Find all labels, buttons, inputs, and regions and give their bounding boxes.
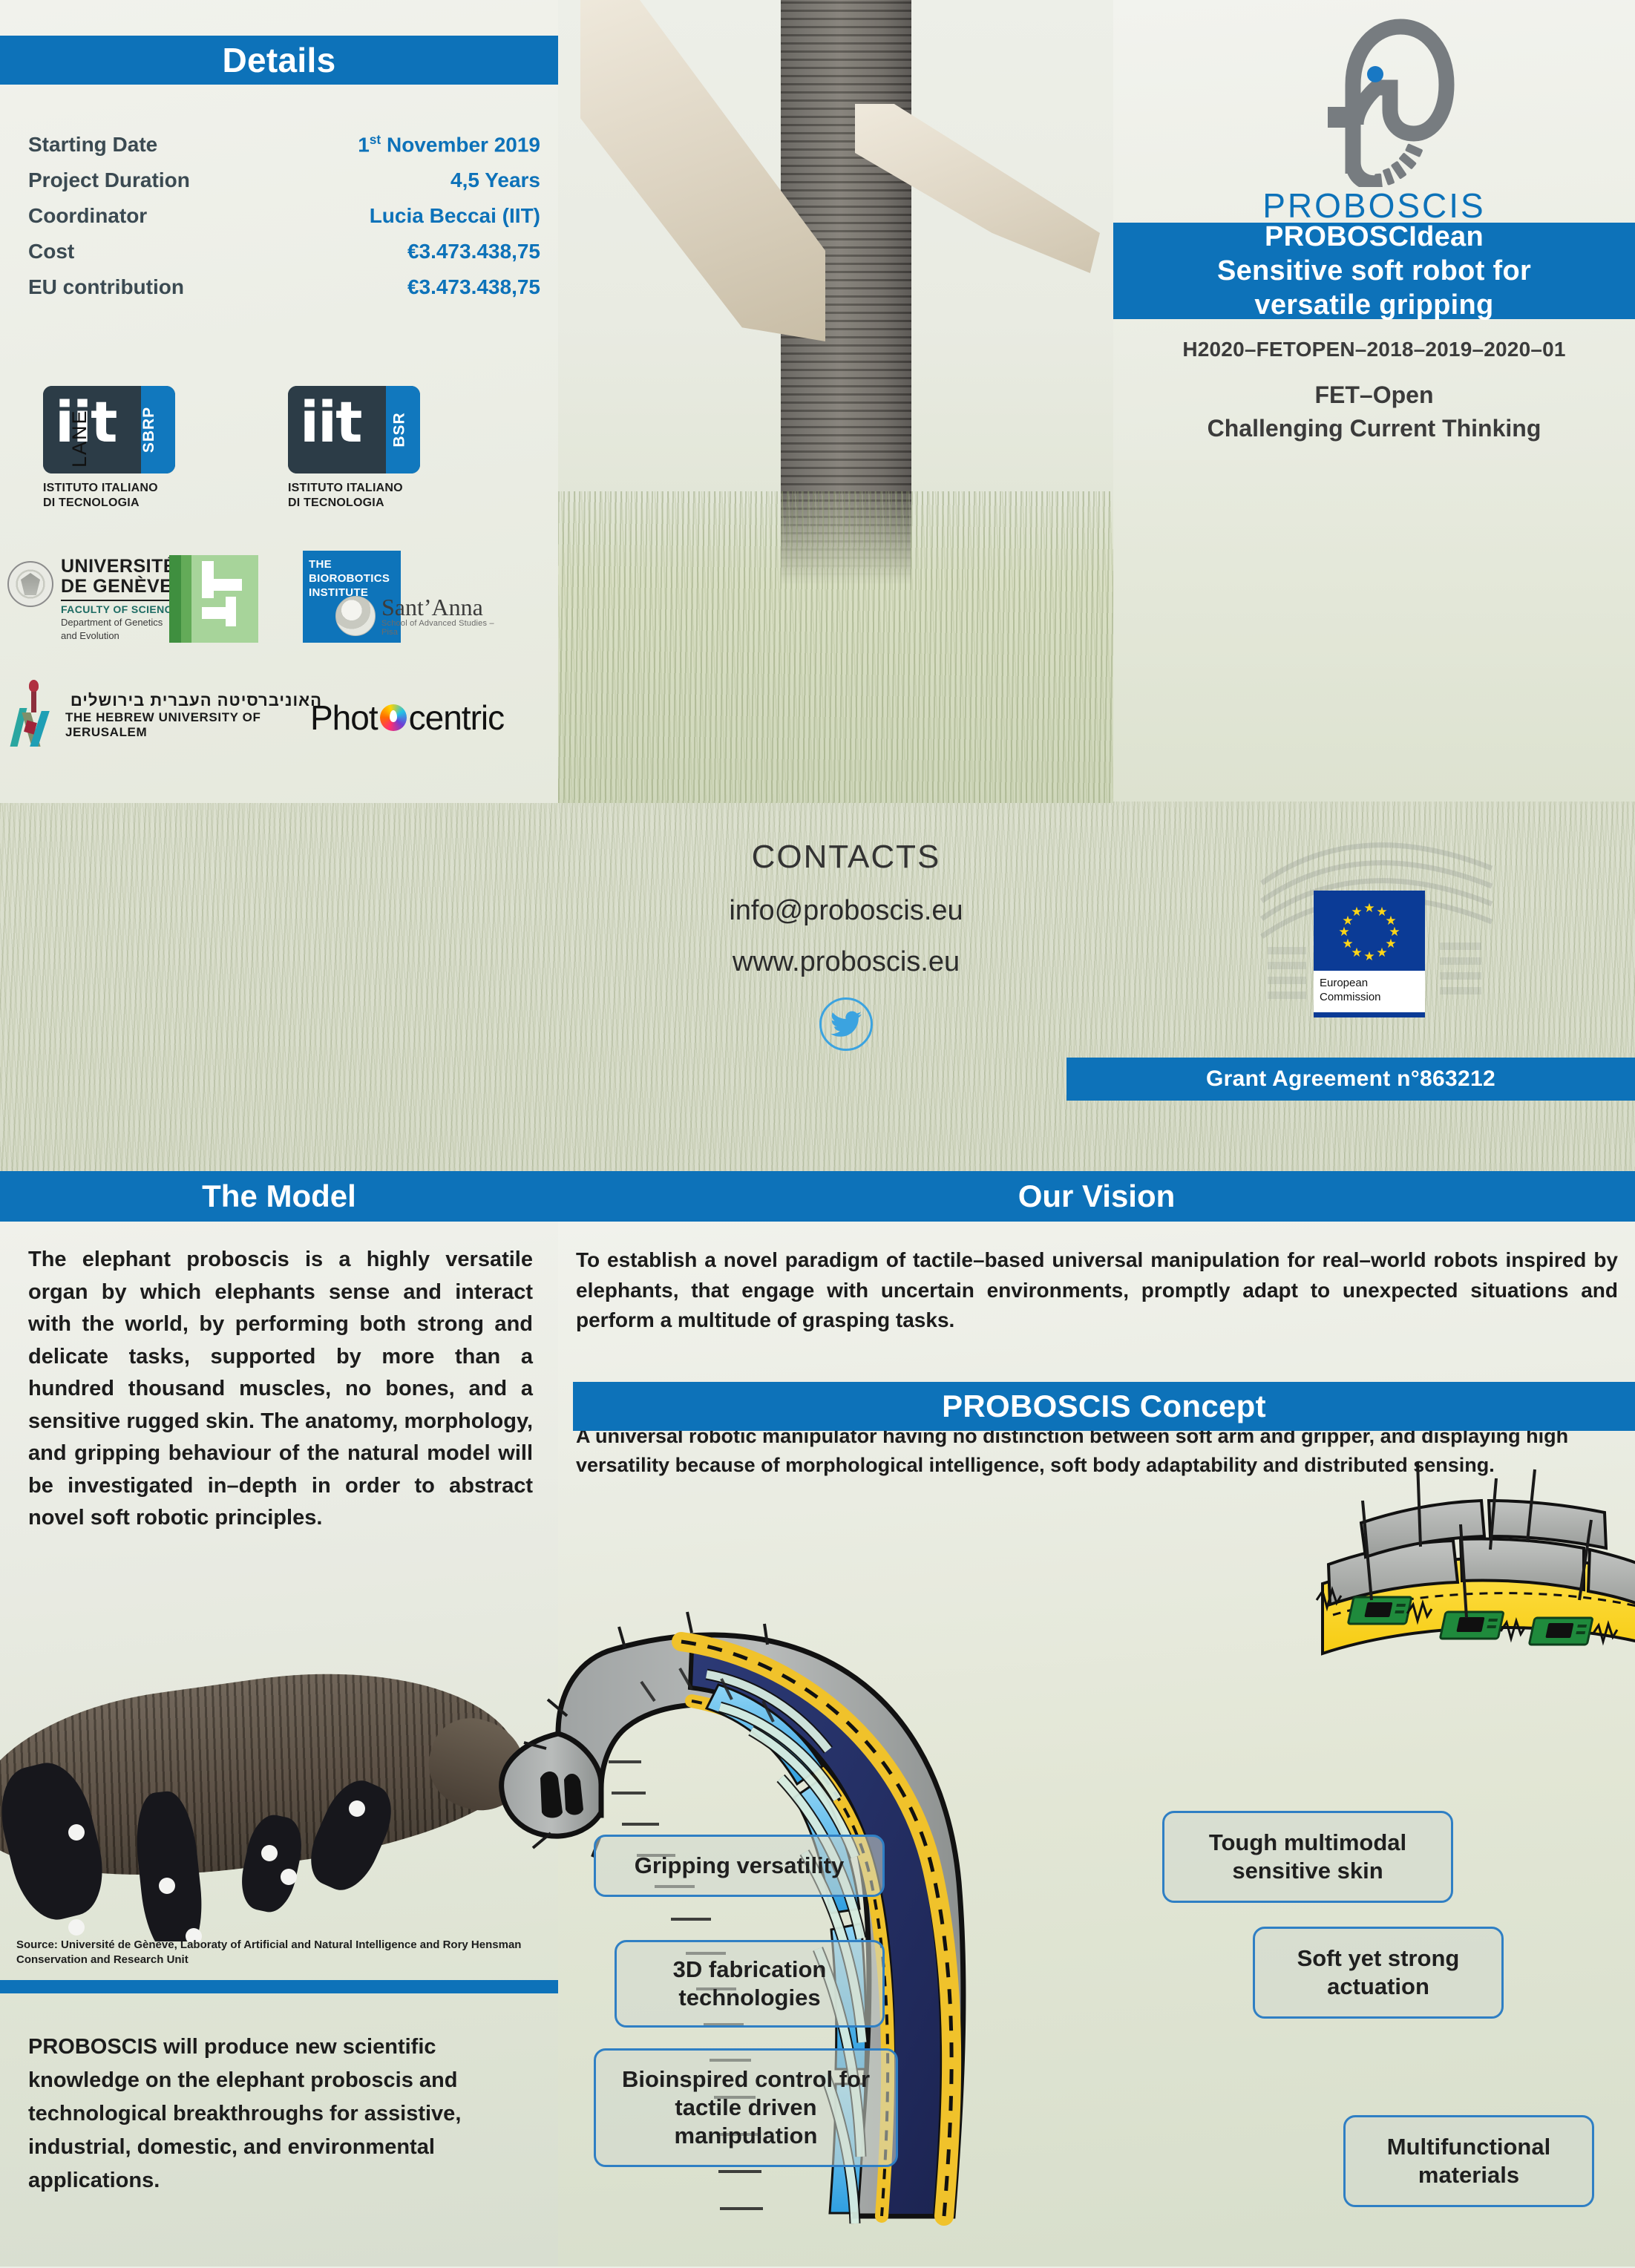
marker-dot-7: [281, 1869, 297, 1885]
iit-bsr-caption: Istituto Italiano di Tecnologia: [288, 481, 420, 511]
detail-value-cost: €3.473.438,75: [407, 240, 540, 263]
details-header-label: Details: [223, 40, 336, 80]
grant-agreement-bar: Grant Agreement n°863212: [1066, 1058, 1635, 1101]
eu-commission-label: European Commission: [1314, 971, 1425, 1017]
hebrew-university-torch-icon: [10, 683, 58, 748]
photocentric-droplet-icon: [380, 704, 407, 731]
unige-seal-icon: [7, 561, 53, 607]
logo-iit-bsr: iit BSR Istituto Italiano di Tecnologia: [288, 386, 420, 511]
contacts-block: CONTACTS info@proboscis.eu www.proboscis…: [653, 839, 1039, 1051]
detail-value-starting-date: 1st November 2019: [358, 132, 540, 157]
iit-bsr-blue-field: BSR: [386, 386, 420, 473]
santanna-text-block: Sant’Anna School of Advanced Studies – P…: [381, 595, 499, 637]
twitter-icon[interactable]: [819, 997, 873, 1051]
iit-sbrp-unit: SBRP: [140, 407, 158, 453]
marker-dot-3: [159, 1878, 175, 1894]
marker-dot-6: [261, 1845, 278, 1861]
iit-mark-blue-field: SBRP: [141, 386, 175, 473]
chip-soft-yet-strong-actuation[interactable]: Soft yet strong actuation: [1253, 1927, 1504, 2019]
iit-bsr-mark: iit BSR: [288, 386, 420, 473]
hebrew-university-english-name: THE HEBREW UNIVERSITY OF JERUSALEM: [65, 710, 322, 740]
programme-name: FET–Open Challenging Current Thinking: [1113, 378, 1635, 445]
santanna-crest-icon: [335, 596, 376, 636]
hebrew-university-text-block: האוניברסיטה העברית בירושלים THE HEBREW U…: [65, 691, 322, 740]
hebrew-university-hebrew-name: האוניברסיטה העברית בירושלים: [65, 691, 322, 710]
proboscis-wordmark: PROBOSCIS: [1113, 186, 1635, 226]
vision-body-text: To establish a novel paradigm of tactile…: [576, 1245, 1618, 1336]
partner-logos: iit SBRP Istituto Italiano di Tecnologia…: [0, 386, 558, 727]
concept-section-header-bar: PROBOSCIS Concept: [573, 1382, 1635, 1431]
iit-bsr-caption-line1: Istituto Italiano: [288, 481, 420, 496]
model-photo-source-caption: Source: Université de Gènève, Laboraty o…: [16, 1938, 536, 1968]
project-title-line1: PROBOSCIdean: [1265, 220, 1484, 253]
section-header-bar: The Model Our Vision: [0, 1171, 1635, 1222]
iit-bsr-dark-field: iit: [288, 386, 386, 473]
detail-row-starting-date: Starting Date 1st November 2019: [28, 132, 540, 157]
logo-lane: [169, 555, 258, 643]
eu-label-line2: Commission: [1320, 991, 1419, 1005]
santanna-name: Sant’Anna: [381, 595, 499, 619]
details-header-bar: Details: [0, 36, 558, 85]
closing-statement-text: PROBOSCIS will produce new scientific kn…: [28, 2031, 533, 2197]
chip-gripping-versatility[interactable]: Gripping versatility: [594, 1835, 885, 1897]
detail-row-coordinator: Coordinator Lucia Beccai (IIT): [28, 204, 540, 228]
logo-iit-sbrp: iit SBRP Istituto Italiano di Tecnologia: [43, 386, 175, 511]
lane-wordmark: LANE: [68, 390, 91, 468]
detail-row-eu-contribution: EU contribution €3.473.438,75: [28, 275, 540, 299]
project-title-line3: versatile gripping: [1254, 289, 1493, 321]
marker-dot-1: [68, 1824, 85, 1841]
details-list: Starting Date 1st November 2019 Project …: [28, 132, 540, 311]
hero-grass-foreground: [558, 491, 1113, 803]
logo-eye-dot: [1367, 66, 1383, 82]
detail-label-starting-date: Starting Date: [28, 133, 157, 157]
model-section-header: The Model: [0, 1171, 558, 1222]
contacts-title: CONTACTS: [653, 839, 1039, 876]
elephant-tusks-photo: [558, 0, 1113, 803]
iit-sbrp-caption-line2: di Tecnologia: [43, 496, 175, 511]
lane-cut-2: [214, 579, 242, 591]
lane-stripe-2: [181, 555, 191, 643]
torch-flame: [29, 680, 39, 692]
iit-bsr-unit: BSR: [390, 412, 408, 447]
detail-label-coordinator: Coordinator: [28, 204, 147, 228]
lane-stripe-1: [169, 555, 181, 643]
chip-multifunctional-materials[interactable]: Multifunctional materials: [1343, 2115, 1594, 2207]
lane-cut-1: [202, 561, 214, 598]
european-commission-logo: ★ ★ ★ ★ ★ ★ ★ ★ ★ ★ ★ ★ European Commiss…: [1314, 891, 1425, 1017]
iit-bsr-letters: iit: [300, 396, 361, 448]
iit-bsr-caption-line2: di Tecnologia: [288, 496, 420, 511]
contact-website[interactable]: www.proboscis.eu: [653, 946, 1039, 978]
concept-section-header-label: PROBOSCIS Concept: [942, 1389, 1266, 1424]
chip-3d-fabrication-technologies[interactable]: 3D fabrication technologies: [615, 1940, 885, 2028]
twitter-bird-icon: [830, 1011, 862, 1038]
iit-sbrp-caption-line1: Istituto Italiano: [43, 481, 175, 496]
brand-panel: PROBOSCIS H2020–FETOPEN–2018–2019–2020–0…: [1113, 0, 1635, 803]
eu-flag-icon: ★ ★ ★ ★ ★ ★ ★ ★ ★ ★ ★ ★: [1314, 891, 1425, 971]
iit-mark-dark-field: iit: [43, 386, 141, 473]
biorobotics-line1: THE BIOROBOTICS: [309, 558, 395, 586]
contact-email[interactable]: info@proboscis.eu: [653, 895, 1039, 927]
detail-value-eu-contribution: €3.473.438,75: [407, 275, 540, 299]
eu-label-line1: European: [1320, 977, 1419, 991]
photocentric-part2: centric: [409, 698, 504, 738]
detail-value-project-duration: 4,5 Years: [450, 168, 540, 192]
logo-santanna: Sant’Anna School of Advanced Studies – P…: [335, 595, 499, 637]
marker-dot-8: [349, 1800, 365, 1817]
marker-dot-2: [68, 1919, 85, 1936]
call-identifier: H2020–FETOPEN–2018–2019–2020–01: [1113, 338, 1635, 361]
programme-line1: FET–Open: [1113, 378, 1635, 412]
sensitive-skin-illustration: [1315, 1459, 1635, 1704]
model-body-text: The elephant proboscis is a highly versa…: [28, 1244, 533, 1535]
project-title-line2: Sensitive soft robot for: [1217, 255, 1531, 287]
detail-label-eu-contribution: EU contribution: [28, 275, 184, 299]
detail-label-cost: Cost: [28, 240, 74, 263]
santanna-subtitle: School of Advanced Studies – Pisa: [381, 619, 499, 637]
grant-agreement-label: Grant Agreement n°863212: [1206, 1066, 1495, 1092]
detail-label-project-duration: Project Duration: [28, 168, 190, 192]
chip-bioinspired-control[interactable]: Bioinspired control for tactile driven m…: [594, 2048, 898, 2167]
logo-photocentric: Phot centric: [310, 698, 504, 738]
proboscis-elephant-logo-icon: [1282, 16, 1467, 187]
photocentric-part1: Phot: [310, 698, 378, 738]
detail-value-coordinator: Lucia Beccai (IIT): [370, 204, 540, 228]
detail-row-cost: Cost €3.473.438,75: [28, 240, 540, 263]
iit-sbrp-caption: Istituto Italiano di Tecnologia: [43, 481, 175, 511]
iit-sbrp-mark: iit SBRP: [43, 386, 175, 473]
project-title-bar: PROBOSCIdean Sensitive soft robot for ve…: [1113, 223, 1635, 319]
vision-section-header: Our Vision: [558, 1171, 1635, 1222]
detail-row-project-duration: Project Duration 4,5 Years: [28, 168, 540, 192]
logo-hebrew-university: האוניברסיטה העברית בירושלים THE HEBREW U…: [10, 683, 322, 748]
lane-cut-4: [226, 597, 236, 626]
programme-line2: Challenging Current Thinking: [1113, 412, 1635, 445]
chip-tough-multimodal-sensitive-skin[interactable]: Tough multimodal sensitive skin: [1162, 1811, 1453, 1903]
